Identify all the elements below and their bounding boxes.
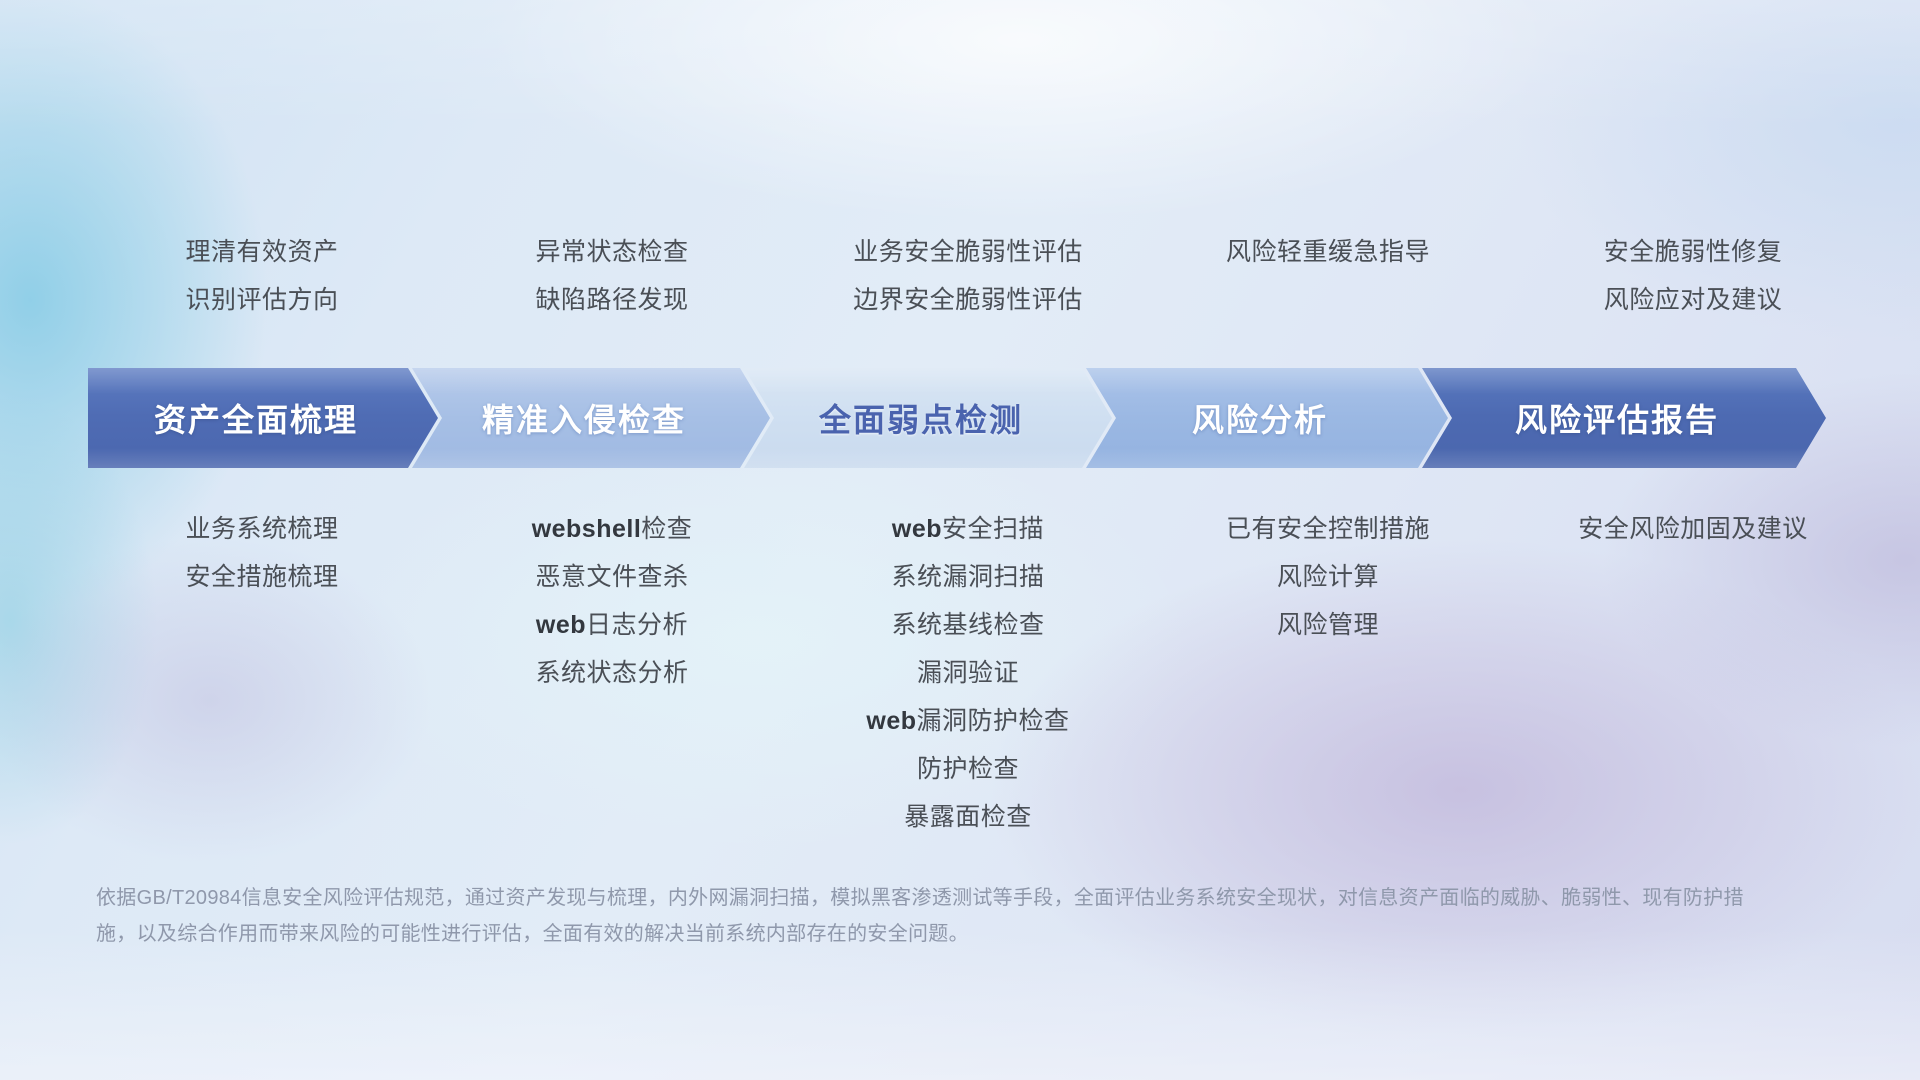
bottom-item: 恶意文件查杀 bbox=[535, 553, 688, 601]
bottom-item: 漏洞验证 bbox=[917, 649, 1019, 697]
stage-chevron-asset[interactable]: 资产全面梳理 bbox=[88, 368, 438, 468]
stage-label: 精准入侵检查 bbox=[482, 395, 700, 441]
top-item: 风险轻重缓急指导 bbox=[1226, 228, 1430, 276]
bottom-column-weakness: web安全扫描系统漏洞扫描系统基线检查漏洞验证web漏洞防护检查防护检查暴露面检… bbox=[788, 505, 1148, 841]
bottom-item: web漏洞防护检查 bbox=[866, 697, 1069, 745]
bottom-items-row: 业务系统梳理安全措施梳理 webshell检查恶意文件查杀web日志分析系统状态… bbox=[88, 505, 1878, 841]
process-diagram: 理清有效资产 识别评估方向 异常状态检查 缺陷路径发现 业务安全脆弱性评估 边界… bbox=[0, 0, 1920, 1080]
bottom-item: webshell检查 bbox=[532, 505, 693, 553]
bottom-item: 系统状态分析 bbox=[535, 649, 688, 697]
top-item: 缺陷路径发现 bbox=[535, 276, 688, 324]
bottom-item: 系统基线检查 bbox=[891, 601, 1044, 649]
top-column-weakness: 业务安全脆弱性评估 边界安全脆弱性评估 bbox=[788, 228, 1148, 324]
bottom-item: 安全措施梳理 bbox=[185, 553, 338, 601]
top-item: 安全脆弱性修复 bbox=[1604, 228, 1783, 276]
bottom-column-asset: 业务系统梳理安全措施梳理 bbox=[88, 505, 436, 841]
stage-chevron-banner: 资产全面梳理 精准入侵检查 全面弱点检测 风险分析 风险评估报告 bbox=[88, 368, 1878, 468]
stage-chevron-intrusion[interactable]: 精准入侵检查 bbox=[412, 368, 770, 468]
top-column-risk-analysis: 风险轻重缓急指导 bbox=[1148, 228, 1508, 324]
bottom-item: web日志分析 bbox=[536, 601, 688, 649]
stage-label: 风险分析 bbox=[1192, 395, 1342, 441]
bottom-item: 风险计算 bbox=[1277, 553, 1379, 601]
footer-description: 依据GB/T20984信息安全风险评估规范，通过资产发现与梳理，内外网漏洞扫描，… bbox=[96, 880, 1756, 952]
stage-chevron-report[interactable]: 风险评估报告 bbox=[1422, 368, 1826, 468]
stage-label: 全面弱点检测 bbox=[819, 395, 1037, 441]
bottom-item: web安全扫描 bbox=[892, 505, 1044, 553]
top-item: 理清有效资产 bbox=[185, 228, 338, 276]
top-column-report: 安全脆弱性修复 风险应对及建议 bbox=[1508, 228, 1878, 324]
top-items-row: 理清有效资产 识别评估方向 异常状态检查 缺陷路径发现 业务安全脆弱性评估 边界… bbox=[88, 228, 1878, 324]
stage-label: 资产全面梳理 bbox=[154, 395, 372, 441]
stage-label: 风险评估报告 bbox=[1515, 395, 1733, 441]
stage-chevron-risk-analysis[interactable]: 风险分析 bbox=[1086, 368, 1448, 468]
top-column-asset: 理清有效资产 识别评估方向 bbox=[88, 228, 436, 324]
bottom-column-report: 安全风险加固及建议 bbox=[1508, 505, 1878, 841]
top-column-intrusion: 异常状态检查 缺陷路径发现 bbox=[436, 228, 788, 324]
bottom-column-intrusion: webshell检查恶意文件查杀web日志分析系统状态分析 bbox=[436, 505, 788, 841]
stage-chevron-weakness[interactable]: 全面弱点检测 bbox=[744, 368, 1112, 468]
bottom-item: 暴露面检查 bbox=[904, 793, 1032, 841]
bottom-item: 防护检查 bbox=[917, 745, 1019, 793]
bottom-item: 安全风险加固及建议 bbox=[1578, 505, 1808, 553]
bottom-column-risk-analysis: 已有安全控制措施风险计算风险管理 bbox=[1148, 505, 1508, 841]
bottom-item: 系统漏洞扫描 bbox=[891, 553, 1044, 601]
top-item: 边界安全脆弱性评估 bbox=[853, 276, 1083, 324]
top-item: 异常状态检查 bbox=[535, 228, 688, 276]
top-item: 识别评估方向 bbox=[185, 276, 338, 324]
bottom-item: 风险管理 bbox=[1277, 601, 1379, 649]
top-item: 业务安全脆弱性评估 bbox=[853, 228, 1083, 276]
bottom-item: 已有安全控制措施 bbox=[1226, 505, 1430, 553]
top-item: 风险应对及建议 bbox=[1604, 276, 1783, 324]
bottom-item: 业务系统梳理 bbox=[185, 505, 338, 553]
